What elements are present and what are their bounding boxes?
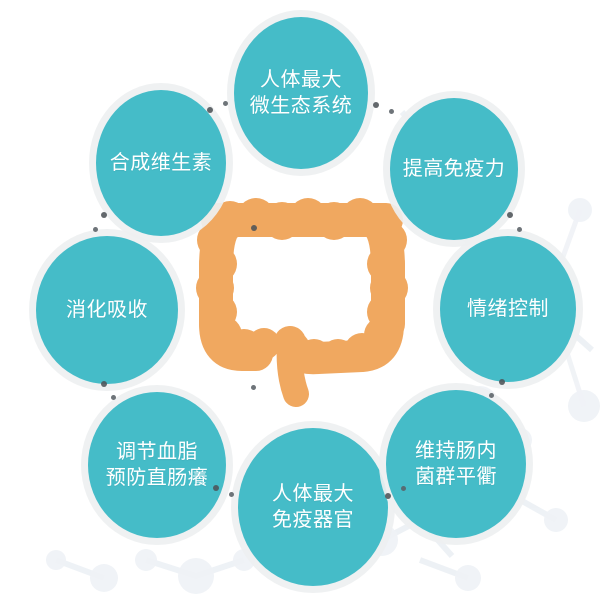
- bubble-improve-immunity[interactable]: 提高免疫力: [390, 98, 518, 240]
- connector-dot: [507, 212, 513, 218]
- large-intestine-colon-icon: [196, 196, 408, 412]
- bubble-mood-control[interactable]: 情绪控制: [440, 236, 576, 382]
- bubble-label: 人体最大 微生态系统: [250, 67, 353, 120]
- bubble-label: 合成维生素: [110, 150, 213, 176]
- bubble-maintain-gut-flora[interactable]: 维持肠内 菌群平衢: [386, 390, 526, 538]
- connector-dot: [517, 227, 522, 232]
- bubble-largest-microecosystem[interactable]: 人体最大 微生态系统: [234, 17, 368, 169]
- connector-dot: [499, 379, 505, 385]
- bubble-label: 调节血脂 预防直肠癢: [106, 439, 209, 492]
- bubble-largest-immune-organ[interactable]: 人体最大 免疫器官: [238, 428, 388, 586]
- bubble-label: 维持肠内 菌群平衢: [415, 438, 497, 491]
- bubble-label: 提高免疫力: [403, 156, 506, 182]
- connector-dot: [373, 102, 379, 108]
- connector-dot: [101, 212, 107, 218]
- connector-dot: [251, 385, 256, 390]
- connector-dot: [111, 395, 116, 400]
- bubble-label: 情绪控制: [467, 296, 549, 322]
- bubble-synthesize-vitamins[interactable]: 合成维生素: [96, 90, 226, 236]
- connector-dot: [213, 485, 219, 491]
- connector-dot: [251, 225, 257, 231]
- connector-dot: [207, 107, 213, 113]
- bubble-digestion-absorption[interactable]: 消化吸收: [36, 236, 178, 384]
- bubble-label: 消化吸收: [66, 297, 148, 323]
- infographic-canvas: 人体最大 微生态系统 合成维生素 提高免疫力 消化吸收 情绪控制 调节血脂 预防…: [0, 0, 600, 597]
- connector-dot: [489, 393, 494, 398]
- connector-dot: [385, 493, 391, 499]
- connector-dot: [389, 109, 394, 114]
- connector-dot: [93, 227, 98, 232]
- bubble-regulate-blood-lipids[interactable]: 调节血脂 预防直肠癢: [88, 392, 226, 538]
- connector-dot: [101, 381, 107, 387]
- bubble-label: 人体最大 免疫器官: [272, 481, 354, 534]
- connector-dot: [229, 492, 234, 497]
- connector-dot: [401, 486, 406, 491]
- connector-dot: [223, 101, 228, 106]
